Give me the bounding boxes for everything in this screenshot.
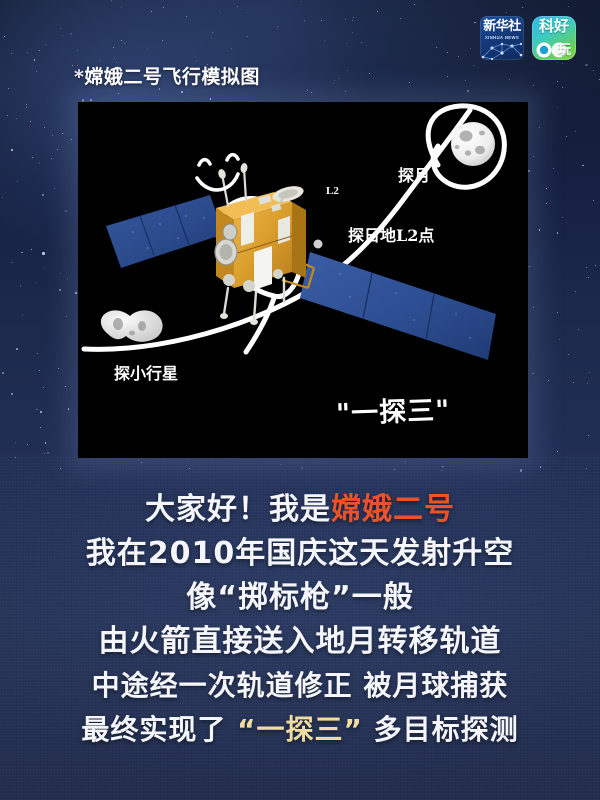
smiley-face-doodle [197, 155, 238, 190]
flight-simulation-panel: 探月 探日地L2点 探小行星 L2 "一探三" [78, 102, 528, 458]
narration-line: 由火箭直接送入地月转移轨道 [0, 620, 600, 664]
label-explore-l2-point: 探日地L2点 [348, 222, 434, 246]
narration-line: 中途经一次轨道修正 被月球捕获 [0, 664, 600, 708]
asteroid-body [101, 310, 163, 341]
narration-segment: 多目标探测 [363, 713, 519, 746]
narration-segment: 嫦娥二号 [331, 492, 455, 527]
narration-line: 像“掷标枪”一般 [0, 576, 600, 620]
flight-diagram-svg [78, 102, 528, 458]
xinhua-logo-cn-text: 新华社 [480, 20, 524, 33]
page-caption: *嫦娥二号飞行模拟图 [74, 62, 260, 89]
narration-line: 我在2010年国庆这天发射升空 [0, 532, 600, 576]
narration-segment: 大家好！我是 [145, 492, 331, 527]
narration-segment: 由火箭直接送入地月转移轨道 [99, 624, 502, 659]
moon-body [451, 122, 495, 166]
xinhua-constellation-icon [480, 38, 524, 60]
narration-line: 最终实现了 “一探三” 多目标探测 [0, 708, 600, 752]
label-l2-tag: L2 [326, 185, 339, 197]
narration-line: 大家好！我是嫦娥二号 [0, 488, 600, 532]
narration-segment: 最终实现了 [81, 713, 237, 746]
kehaowan-logo[interactable]: 科好 玩 [532, 16, 576, 60]
narration-block: 大家好！我是嫦娥二号我在2010年国庆这天发射升空像“掷标枪”一般由火箭直接送入… [0, 488, 600, 752]
logo-group: 新华社 XINHUA NEWS 科好 [480, 16, 576, 60]
narration-segment: “一探三” [237, 713, 363, 746]
l2-point-marker [314, 240, 323, 249]
label-explore-moon: 探月 [398, 162, 430, 186]
narration-segment: 像“掷标枪”一般 [186, 580, 413, 615]
chang-e-2-spacecraft [106, 162, 496, 360]
narration-segment: 中途经一次轨道修正 被月球捕获 [92, 669, 509, 702]
kehaowan-logo-top-text: 科好 [532, 18, 576, 34]
label-slogan-one-probe-three: "一探三" [335, 388, 450, 431]
label-explore-asteroid: 探小行星 [114, 360, 178, 384]
xinhua-news-logo[interactable]: 新华社 XINHUA NEWS [480, 16, 524, 60]
narration-segment: 我在2010年国庆这天发射升空 [86, 536, 515, 571]
poster-root: 新华社 XINHUA NEWS 科好 [0, 0, 600, 800]
kehaowan-logo-bottom-text: 玩 [532, 44, 576, 58]
